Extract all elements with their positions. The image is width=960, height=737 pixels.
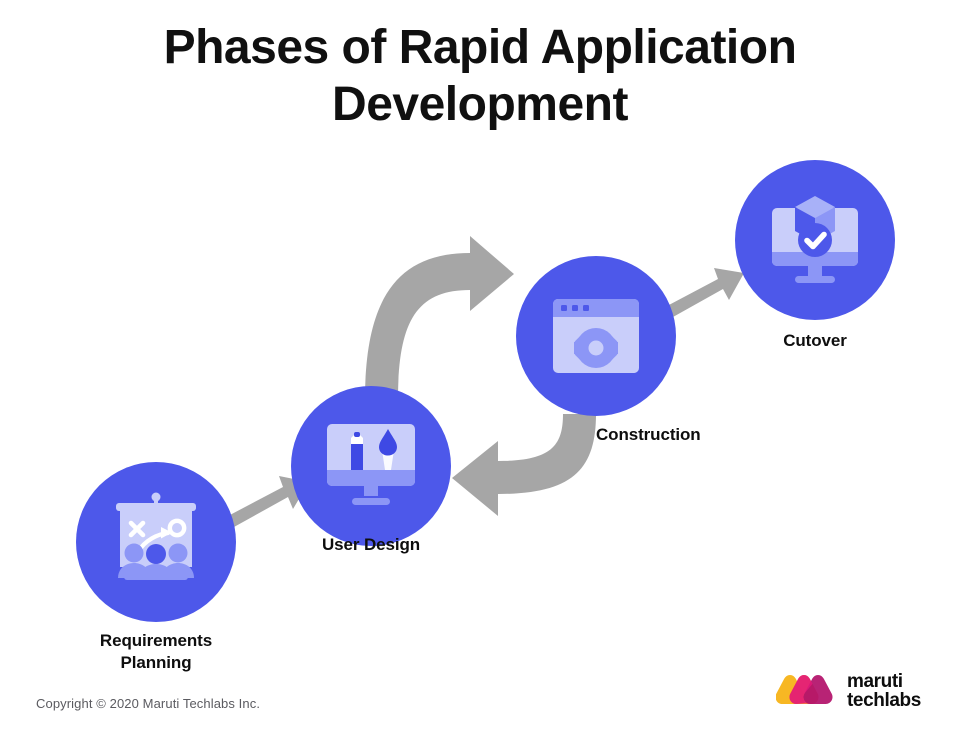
brand-wordmark: maruti techlabs bbox=[847, 673, 921, 710]
brand-wordmark-line-2: techlabs bbox=[847, 692, 921, 711]
monitor-package-check-icon bbox=[763, 188, 867, 292]
phase-label-cutover: Cutover bbox=[695, 330, 935, 352]
presentation-board-icon bbox=[104, 490, 208, 594]
phase-circle-user-design[interactable] bbox=[291, 386, 451, 546]
copyright-text: Copyright © 2020 Maruti Techlabs Inc. bbox=[36, 696, 260, 711]
brand-logo: maruti techlabs bbox=[776, 672, 921, 712]
monitor-design-tools-icon bbox=[319, 414, 423, 518]
phase-label-user-design: User Design bbox=[251, 534, 491, 556]
arrow-construction-to-cutover bbox=[667, 268, 744, 317]
arrow-userdesign-to-construction bbox=[365, 236, 514, 400]
phase-label-construction: Construction bbox=[596, 424, 836, 446]
phase-circle-requirements-planning[interactable] bbox=[76, 462, 236, 622]
diagram-canvas: Phases of Rapid Application Development bbox=[0, 0, 960, 737]
browser-gear-icon bbox=[544, 284, 648, 388]
phase-circle-cutover[interactable] bbox=[735, 160, 895, 320]
phase-circle-construction[interactable] bbox=[516, 256, 676, 416]
connector-arrow-layer bbox=[0, 0, 960, 737]
phase-label-requirements-planning: Requirements Planning bbox=[36, 630, 276, 675]
arrow-construction-to-userdesign bbox=[452, 414, 596, 516]
maruti-techlabs-logo-icon bbox=[776, 672, 838, 712]
